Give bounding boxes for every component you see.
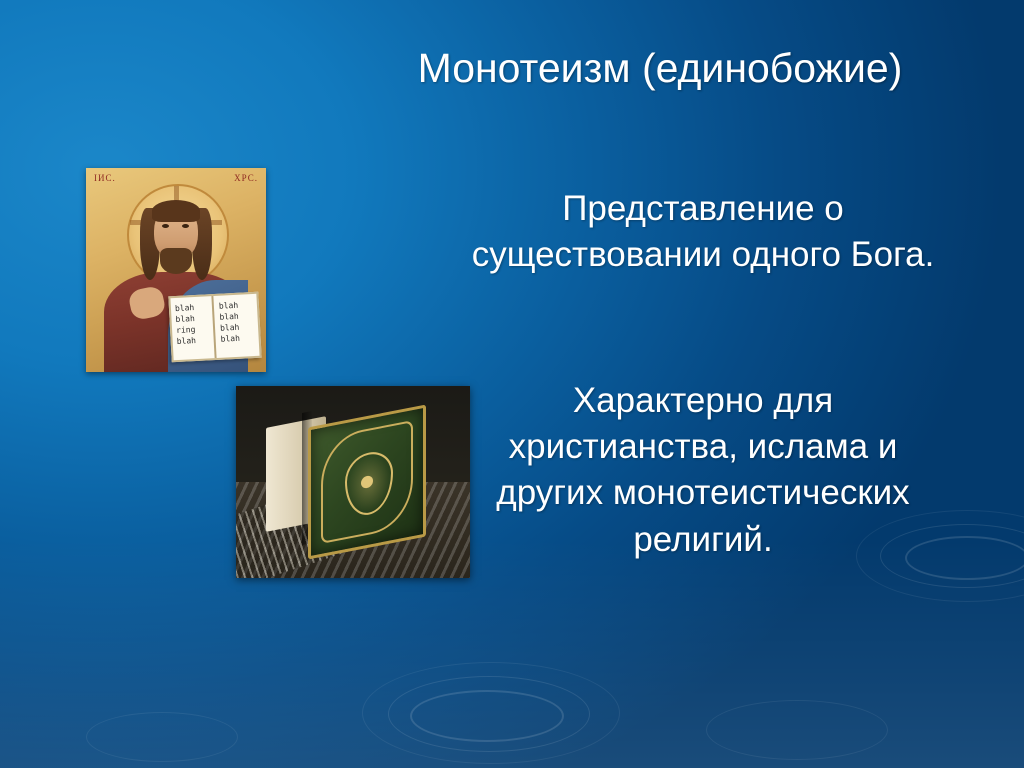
slide-title: Монотеизм (единобожие) [330, 42, 990, 95]
quran-book-photo [236, 386, 470, 578]
icon-inscription-right: ХРС. [234, 173, 258, 183]
hair-shape [152, 200, 200, 222]
icon-inscription-left: IИС. [94, 173, 116, 183]
gospel-book-shape: blah blah ring blah blah blah blah blah [168, 292, 261, 363]
water-ripple-icon [388, 676, 590, 752]
water-ripple-icon [86, 712, 238, 762]
slide-paragraph-1: Представление о существовании одного Бог… [468, 186, 938, 278]
book-text-right: blah blah blah blah [219, 300, 241, 345]
slide-paragraph-2: Характерно для христианства, ислама и др… [468, 378, 938, 563]
book-text-left: blah blah ring blah [175, 302, 197, 347]
christ-icon-image: IИС. ХРС. blah blah ring blah blah blah … [86, 168, 266, 372]
background-sheen [0, 538, 1024, 768]
water-ripple-icon [362, 662, 620, 764]
presentation-slide: Монотеизм (единобожие) Представление о с… [0, 0, 1024, 768]
eye-shape [162, 224, 169, 228]
eye-shape [182, 224, 189, 228]
book-cover-shape [308, 405, 426, 560]
book-spine [211, 296, 216, 358]
water-ripple-icon [410, 690, 564, 742]
beard-shape [160, 248, 192, 274]
water-ripple-icon [706, 700, 888, 760]
